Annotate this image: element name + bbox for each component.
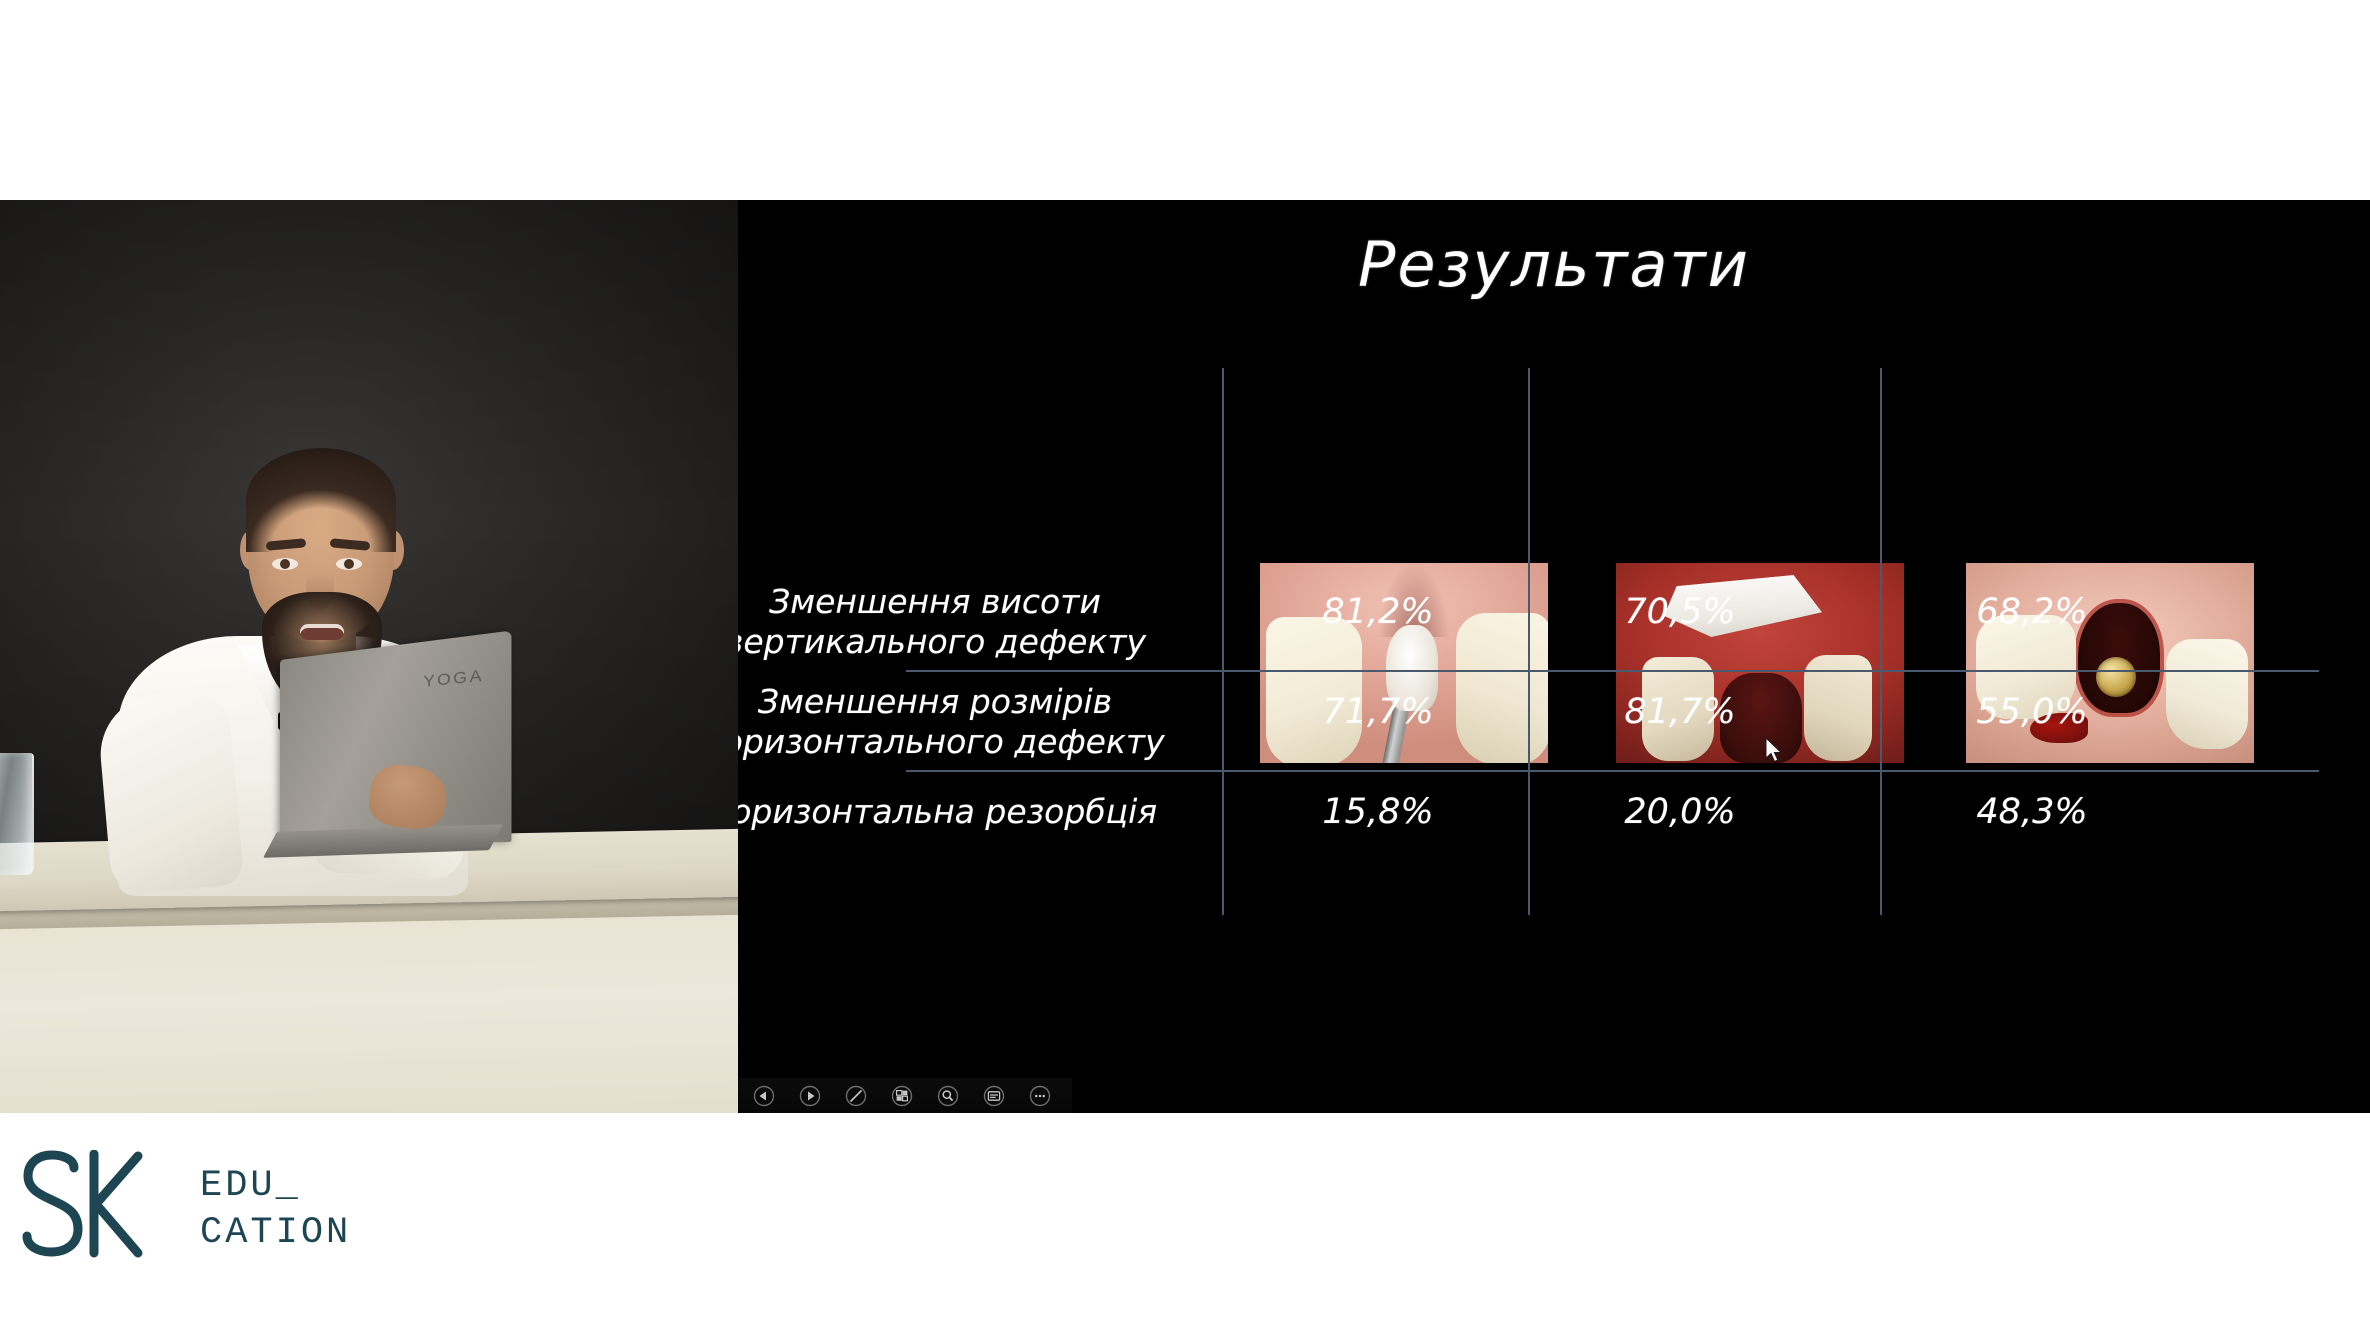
brand-wordmark: EDU_ CATION: [200, 1168, 351, 1252]
next-slide-button[interactable]: [788, 1081, 832, 1111]
pen-tools-button[interactable]: [834, 1081, 878, 1111]
row-label-line-1: Зменшення висоти: [738, 582, 1215, 622]
all-slides-button[interactable]: [880, 1081, 924, 1111]
brand-line-2: CATION: [200, 1215, 351, 1252]
presenter-eye-right: [336, 558, 362, 570]
previous-slide-button[interactable]: [742, 1081, 786, 1111]
table-cell-value: 71,7%: [1228, 692, 1528, 732]
row-label-line-1: Горизонтальна резорбція: [738, 792, 1215, 832]
table-cell-value: 48,3%: [1882, 792, 2182, 832]
table-gridline-horizontal-2: [906, 770, 2319, 772]
table-row-label: Зменшення розмірів горизонтального дефек…: [738, 682, 1215, 763]
table-gridline-vertical-1: [1222, 368, 1224, 915]
table-gridline-vertical-2: [1528, 368, 1530, 915]
table-cell-value: 68,2%: [1882, 592, 2182, 632]
presenter-mouth: [300, 624, 344, 640]
desk-front: [0, 909, 738, 1113]
subtitles-button[interactable]: [972, 1081, 1016, 1111]
sk-monogram-icon: [14, 1150, 184, 1270]
slideshow-control-bar[interactable]: [738, 1078, 1072, 1113]
table-cell-value: 20,0%: [1530, 792, 1830, 832]
water-glass: [0, 753, 34, 875]
table-row-label: Зменшення висоти вертикального дефекту: [738, 582, 1215, 663]
zoom-slide-button[interactable]: [926, 1081, 970, 1111]
screen-root: YOGA Результати: [0, 0, 2370, 1328]
dental-implant: [2096, 657, 2136, 697]
table-gridline-vertical-3: [1880, 368, 1882, 915]
table-row-label: Горизонтальна резорбція: [738, 792, 1215, 832]
row-label-line-2: вертикального дефекту: [738, 622, 1215, 662]
brand-line-1: EDU_: [200, 1168, 351, 1205]
row-label-line-2: горизонтального дефекту: [738, 722, 1215, 762]
table-cell-value: 55,0%: [1882, 692, 2182, 732]
slide-title: Результати: [738, 228, 2370, 301]
table-cell-value: 81,7%: [1530, 692, 1830, 732]
presentation-slide: Результати: [738, 200, 2370, 1113]
table-cell-value: 81,2%: [1228, 592, 1528, 632]
table-gridline-horizontal-1: [906, 670, 2319, 672]
table-cell-value: 15,8%: [1228, 792, 1528, 832]
brand-logo: EDU_ CATION: [14, 1150, 351, 1270]
tooth-left: [1266, 617, 1362, 763]
more-options-button[interactable]: [1018, 1081, 1062, 1111]
video-stage: YOGA Результати: [0, 200, 2370, 1113]
row-label-line-1: Зменшення розмірів: [738, 682, 1215, 722]
presenter-left-arm: [96, 689, 245, 896]
tooth-right: [1456, 613, 1548, 763]
presenter-hair: [246, 448, 396, 552]
laptop-brand-label: YOGA: [423, 666, 484, 691]
table-cell-value: 70,5%: [1530, 592, 1830, 632]
presenter-eye-left: [272, 558, 298, 570]
presenter-webcam-panel: YOGA: [0, 200, 738, 1113]
